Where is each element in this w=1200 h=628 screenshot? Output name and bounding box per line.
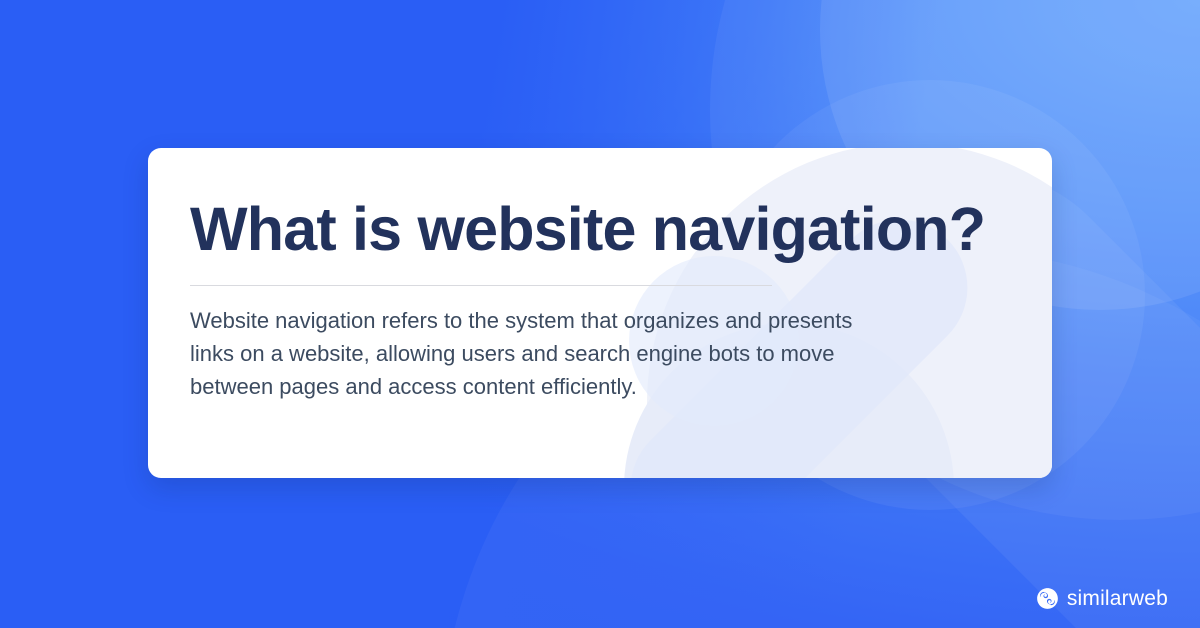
similarweb-logo-mark [1036, 587, 1059, 610]
card-content: What is website navigation? Website navi… [148, 148, 1052, 403]
similarweb-wordmark: similarweb [1067, 588, 1168, 609]
card-body-text: Website navigation refers to the system … [190, 304, 862, 403]
promo-card-graphic: What is website navigation? Website navi… [0, 0, 1200, 628]
content-card: What is website navigation? Website navi… [148, 148, 1052, 478]
card-title: What is website navigation? [190, 198, 1052, 261]
card-divider [190, 285, 772, 286]
similarweb-logo: similarweb [1036, 587, 1168, 610]
